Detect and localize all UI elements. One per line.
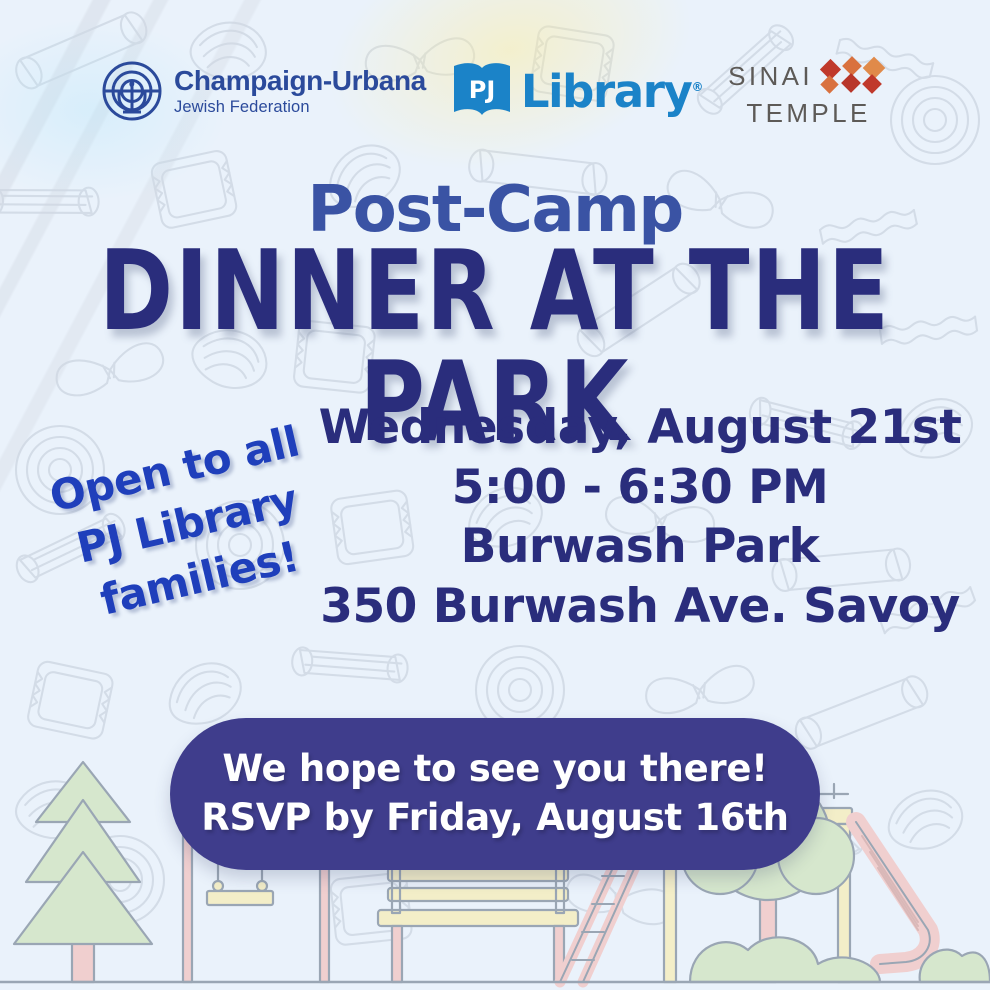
pj-library-word: Library [521,65,692,118]
event-date: Wednesday, August 21st [310,398,970,458]
federation-wordmark: Champaign-Urbana Jewish Federation [174,67,426,116]
federation-line2: Jewish Federation [174,99,426,116]
federation-line1: Champaign-Urbana [174,67,426,95]
logo-sinai-temple: SINAI TEMPLE [728,56,889,126]
open-book-pj-icon: PJ [452,60,512,122]
menorah-circle-icon [101,60,163,122]
poster: Champaign-Urbana Jewish Federation PJ Li… [0,0,990,990]
sinai-line2: TEMPLE [746,100,870,126]
rsvp-callout: We hope to see you there! RSVP by Friday… [170,718,820,870]
event-venue: Burwash Park [310,517,970,577]
pj-library-trademark: ® [691,80,702,94]
logo-champaign-urbana-jewish-federation: Champaign-Urbana Jewish Federation [101,60,426,122]
rsvp-line2: RSVP by Friday, August 16th [201,794,788,843]
event-details: Wednesday, August 21st 5:00 - 6:30 PM Bu… [310,398,970,637]
event-time: 5:00 - 6:30 PM [310,458,970,518]
event-address: 350 Burwash Ave. Savoy [310,577,970,637]
diamond-cluster-icon [819,56,889,96]
logo-pj-library: PJ Library® [452,60,702,122]
svg-text:PJ: PJ [469,76,496,104]
sinai-line1: SINAI [728,63,813,89]
rsvp-line1: We hope to see you there! [222,745,767,794]
pj-library-wordmark: Library® [521,65,702,118]
logo-row: Champaign-Urbana Jewish Federation PJ Li… [0,52,990,130]
